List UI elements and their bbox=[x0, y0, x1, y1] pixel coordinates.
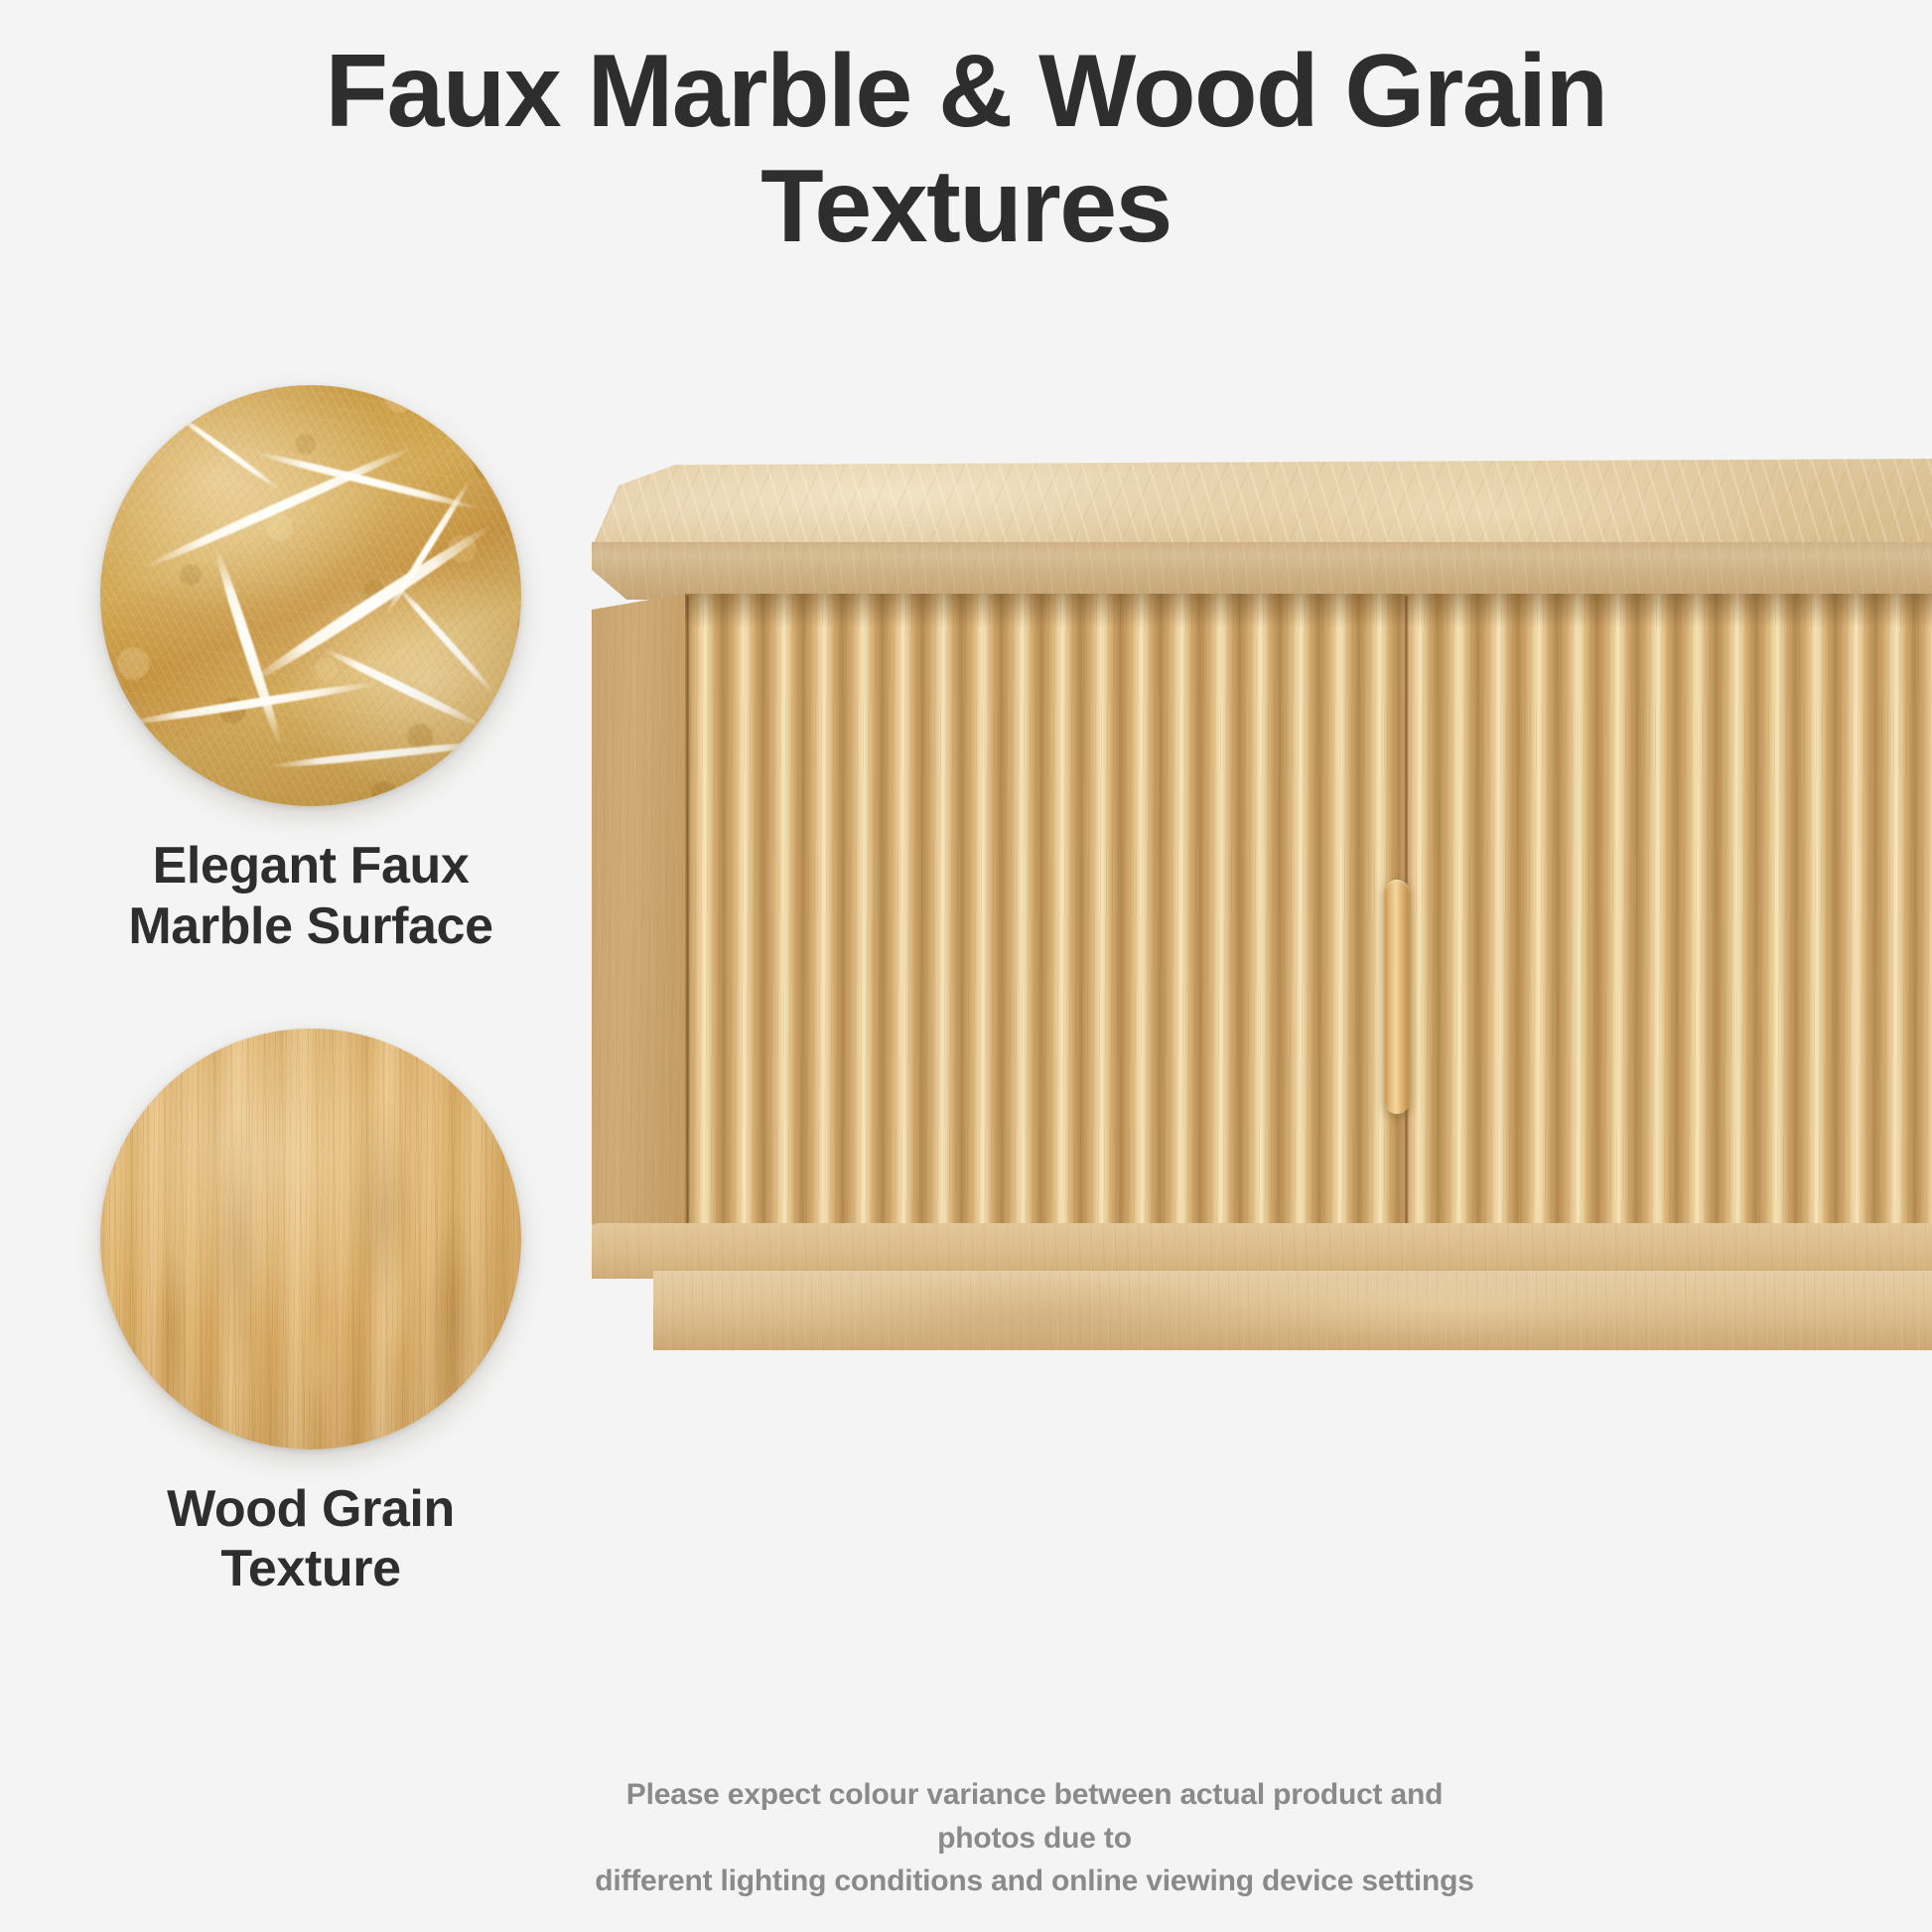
cabinet-door-handle bbox=[1384, 880, 1410, 1114]
disclaimer-line-1: Please expect colour variance between ac… bbox=[578, 1773, 1491, 1860]
sideboard-marble-top bbox=[592, 459, 1932, 548]
swatch-column: Elegant Faux Marble Surface Wood Grain T… bbox=[77, 385, 544, 1599]
flute-wood-grain bbox=[685, 594, 1932, 1229]
wood-caption-line-2: Texture bbox=[77, 1539, 544, 1599]
page-title-line-2: Textures bbox=[0, 149, 1932, 264]
marble-shading-overlay bbox=[100, 385, 521, 806]
wood-circle-swatch bbox=[100, 1029, 521, 1449]
swatch-item-faux-marble: Elegant Faux Marble Surface bbox=[77, 385, 544, 957]
marble-swatch-caption: Elegant Faux Marble Surface bbox=[77, 836, 544, 957]
sideboard-fluted-doors bbox=[685, 594, 1932, 1229]
disclaimer-line-2: different lighting conditions and online… bbox=[578, 1860, 1491, 1903]
wood-caption-line-1: Wood Grain bbox=[77, 1479, 544, 1540]
top-edge-texture bbox=[592, 542, 1932, 600]
page-title: Faux Marble & Wood Grain Textures bbox=[0, 34, 1932, 265]
wood-swatch-caption: Wood Grain Texture bbox=[77, 1479, 544, 1600]
colour-variance-disclaimer: Please expect colour variance between ac… bbox=[578, 1773, 1491, 1903]
sideboard-cabinet-body bbox=[592, 594, 1932, 1229]
flute-top-shadow bbox=[685, 594, 1932, 627]
product-image-sideboard bbox=[592, 459, 1932, 1352]
marble-caption-line-2: Marble Surface bbox=[77, 897, 544, 957]
sideboard-side-panel bbox=[592, 594, 685, 1229]
wood-shading-overlay bbox=[100, 1029, 521, 1449]
swatch-item-wood-grain: Wood Grain Texture bbox=[77, 1029, 544, 1600]
marble-top-veining bbox=[592, 459, 1932, 548]
sideboard-top-edge bbox=[592, 542, 1932, 600]
sideboard-plinth bbox=[653, 1271, 1932, 1350]
page-title-line-1: Faux Marble & Wood Grain bbox=[0, 34, 1932, 149]
marble-circle-swatch bbox=[100, 385, 521, 806]
door-seam-left bbox=[685, 596, 690, 1229]
marble-caption-line-1: Elegant Faux bbox=[77, 836, 544, 897]
